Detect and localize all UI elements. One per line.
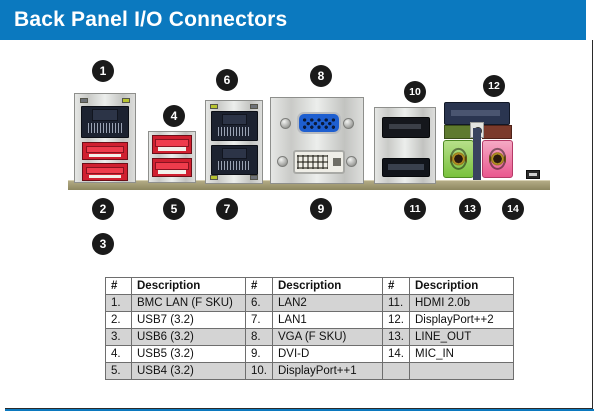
usb5-inner [155,139,188,147]
callout-badge-4: 4 [163,105,185,127]
legend-cell-r1-c4: LAN2 [273,295,383,312]
rj45-pins [88,123,121,133]
vga-screw-right-icon [343,118,354,129]
usb7-inner [86,146,125,153]
usb4-inner [155,162,188,170]
lan2-led-right-icon [250,104,258,109]
lan1-rj45-port [211,145,258,175]
vga-pin-holes [301,117,336,129]
legend-cell-r3-c2: USB6 (3.2) [132,329,246,346]
hdmi-port [382,158,430,177]
line-out-ring-icon [450,148,468,170]
legend-cell-r5-c4: DisplayPort++1 [273,363,383,380]
callout-badge-13: 13 [459,198,481,220]
lan2-led-left-icon [210,104,218,109]
lan1-rj45-pins [218,161,250,171]
legend-cell-r5-c3: 10. [246,363,273,380]
legend-header-num-2: # [246,278,273,295]
lan-stack-shield [205,100,263,184]
usb4-port [152,158,192,177]
lan1-led-right-icon [250,175,258,180]
page-title: Back Panel I/O Connectors [14,8,287,32]
legend-row: 1.BMC LAN (F SKU)6.LAN211.HDMI 2.0b [106,295,514,312]
legend-cell-r2-c1: 2. [106,312,132,329]
legend-cell-r2-c3: 7. [246,312,273,329]
vga-screw-left-icon [280,118,291,129]
dp2-audio-cluster [440,100,518,184]
legend-cell-r1-c1: 1. [106,295,132,312]
legend-header-row: # Description # Description # Descriptio… [106,278,514,295]
legend-row: 3.USB6 (3.2)8.VGA (F SKU)13.LINE_OUT [106,329,514,346]
dvi-screw-right-icon [346,156,357,167]
bmc-lan-usb-shield [74,93,136,183]
vga-dvi-shield [270,97,364,184]
legend-header-desc-2: Description [273,278,383,295]
legend-cell-r3-c3: 8. [246,329,273,346]
dp2-tongue [451,110,500,116]
callout-badge-7: 7 [216,198,238,220]
usb6-port [82,163,128,181]
legend-cell-r2-c2: USB7 (3.2) [132,312,246,329]
legend-header-num-3: # [383,278,410,295]
dvi-pin-array [297,155,328,169]
lan2-rj45-port [211,111,258,141]
legend-cell-r1-c5: 11. [383,295,410,312]
legend-cell-r3-c1: 3. [106,329,132,346]
legend-cell-r5-c5 [383,363,410,380]
usb6-inner [86,167,125,174]
legend-cell-r4-c3: 9. [246,346,273,363]
usb4-tongue [158,170,185,174]
legend-cell-r3-c5: 13. [383,329,410,346]
callout-badge-11: 11 [404,198,426,220]
legend-cell-r2-c6: DisplayPort++2 [410,312,514,329]
usb6-tongue [89,175,121,179]
mic-in-jack [482,140,513,178]
legend-cell-r1-c2: BMC LAN (F SKU) [132,295,246,312]
dp2-support-post [473,128,481,180]
legend-body: 1.BMC LAN (F SKU)6.LAN211.HDMI 2.0b2.USB… [106,295,514,380]
usb5-tongue [158,147,185,151]
usb5-usb4-shield [148,131,196,183]
header-bar: Back Panel I/O Connectors [0,0,586,40]
dvi-d-port [293,150,345,174]
callout-badge-9: 9 [310,198,332,220]
callout-badge-6: 6 [216,69,238,91]
connector-legend-table: # Description # Description # Descriptio… [105,277,514,380]
legend-header-desc-1: Description [132,278,246,295]
legend-cell-r4-c2: USB5 (3.2) [132,346,246,363]
callout-badge-5: 5 [163,198,185,220]
vga-port [297,112,341,134]
dvi-flat-blade [333,158,341,166]
lan2-rj45-pins [218,127,250,137]
hdmi-tongue [388,164,425,169]
callout-badge-3: 3 [92,233,114,255]
legend-cell-r3-c4: VGA (F SKU) [273,329,383,346]
legend-cell-r2-c5: 12. [383,312,410,329]
legend-cell-r1-c6: HDMI 2.0b [410,295,514,312]
line-out-jack [443,140,474,178]
legend-row: 4.USB5 (3.2)9.DVI-D14.MIC_IN [106,346,514,363]
lan1-led-left-icon [210,175,218,180]
legend-cell-r4-c4: DVI-D [273,346,383,363]
dvi-screw-left-icon [277,156,288,167]
callout-badge-14: 14 [502,198,524,220]
legend-cell-r4-c6: MIC_IN [410,346,514,363]
legend-cell-r4-c5: 14. [383,346,410,363]
callout-badge-1: 1 [92,60,114,82]
smd-component [526,170,540,179]
lan-led-left-icon [80,98,88,103]
legend-row: 5.USB4 (3.2)10.DisplayPort++1 [106,363,514,380]
legend-cell-r4-c1: 4. [106,346,132,363]
usb7-tongue [89,154,121,158]
legend-header-desc-3: Description [410,278,514,295]
legend-cell-r5-c2: USB4 (3.2) [132,363,246,380]
lan-led-right-icon [122,98,130,103]
legend-cell-r5-c6 [410,363,514,380]
usb5-port [152,135,192,154]
audio-jack-top-maroon [482,125,512,139]
page-bottom-rule [5,409,594,411]
callout-badge-10: 10 [404,81,426,103]
legend-cell-r3-c6: LINE_OUT [410,329,514,346]
dp-tongue [389,124,421,129]
usb7-port [82,142,128,160]
callout-badge-2: 2 [92,198,114,220]
callout-badge-12: 12 [483,75,505,97]
dp-hdmi-shield [374,107,436,184]
displayport-1-port [382,117,430,138]
callout-badge-8: 8 [310,65,332,87]
legend-cell-r5-c1: 5. [106,363,132,380]
legend-cell-r2-c4: LAN1 [273,312,383,329]
legend-row: 2.USB7 (3.2)7.LAN112.DisplayPort++2 [106,312,514,329]
legend-cell-r1-c3: 6. [246,295,273,312]
mic-in-ring-icon [489,148,507,170]
bmc-lan-rj45-port [81,106,129,138]
legend-header-num-1: # [106,278,132,295]
